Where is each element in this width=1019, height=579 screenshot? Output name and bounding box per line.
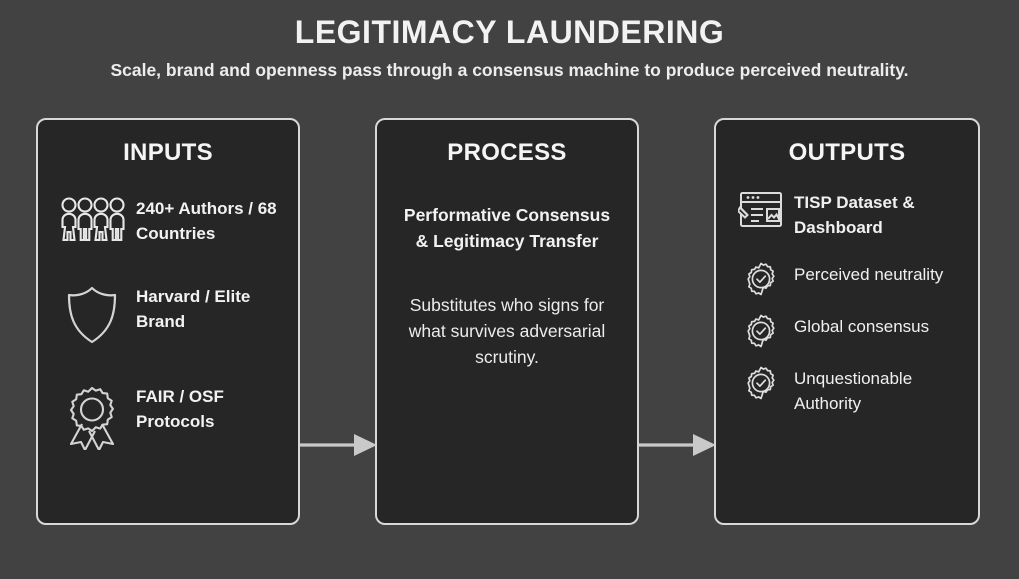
list-item-label: FAIR / OSF Protocols bbox=[126, 384, 278, 434]
process-heading: Performative Consensus & Legitimacy Tran… bbox=[397, 202, 617, 254]
list-item: TISP Dataset & Dashboard bbox=[736, 190, 958, 240]
panel-inputs: INPUTS bbox=[36, 118, 300, 525]
list-item-label: TISP Dataset & Dashboard bbox=[786, 190, 958, 240]
panel-process: PROCESS Performative Consensus & Legitim… bbox=[375, 118, 639, 525]
list-item-label: Harvard / Elite Brand bbox=[126, 284, 278, 334]
award-rosette-icon bbox=[58, 384, 126, 450]
list-item: Unquestionable Authority bbox=[736, 366, 958, 416]
panel-outputs-title: OUTPUTS bbox=[736, 138, 958, 168]
shield-icon bbox=[58, 284, 126, 346]
panel-inputs-list: 240+ Authors / 68 Countries Harvard / El… bbox=[58, 196, 278, 450]
list-item: Harvard / Elite Brand bbox=[58, 284, 278, 346]
arrow-process-to-outputs bbox=[639, 432, 716, 458]
page-title: LEGITIMACY LAUNDERING bbox=[0, 12, 1019, 52]
arrow-inputs-to-process bbox=[300, 432, 377, 458]
diagram-stage: INPUTS bbox=[0, 118, 1019, 528]
panel-process-title: PROCESS bbox=[397, 138, 617, 168]
panel-outputs-list: TISP Dataset & Dashboard Perceived neutr… bbox=[736, 190, 958, 416]
list-item-label: Global consensus bbox=[786, 314, 958, 339]
panel-outputs: OUTPUTS bbox=[714, 118, 980, 525]
people-group-icon bbox=[58, 196, 126, 246]
list-item: Global consensus bbox=[736, 314, 958, 348]
list-item-label: 240+ Authors / 68 Countries bbox=[126, 196, 278, 246]
list-item: 240+ Authors / 68 Countries bbox=[58, 196, 278, 246]
badge-check-icon bbox=[736, 366, 786, 400]
panel-inputs-title: INPUTS bbox=[58, 138, 278, 168]
list-item: FAIR / OSF Protocols bbox=[58, 384, 278, 450]
badge-check-icon bbox=[736, 262, 786, 296]
list-item-label: Perceived neutrality bbox=[786, 262, 958, 287]
page-subtitle: Scale, brand and openness pass through a… bbox=[0, 58, 1019, 82]
header: LEGITIMACY LAUNDERING Scale, brand and o… bbox=[0, 0, 1019, 82]
list-item-label: Unquestionable Authority bbox=[786, 366, 958, 416]
badge-check-icon bbox=[736, 314, 786, 348]
list-item: Perceived neutrality bbox=[736, 262, 958, 296]
process-body-text: Substitutes who signs for what survives … bbox=[397, 292, 617, 370]
dashboard-window-icon bbox=[736, 190, 786, 230]
